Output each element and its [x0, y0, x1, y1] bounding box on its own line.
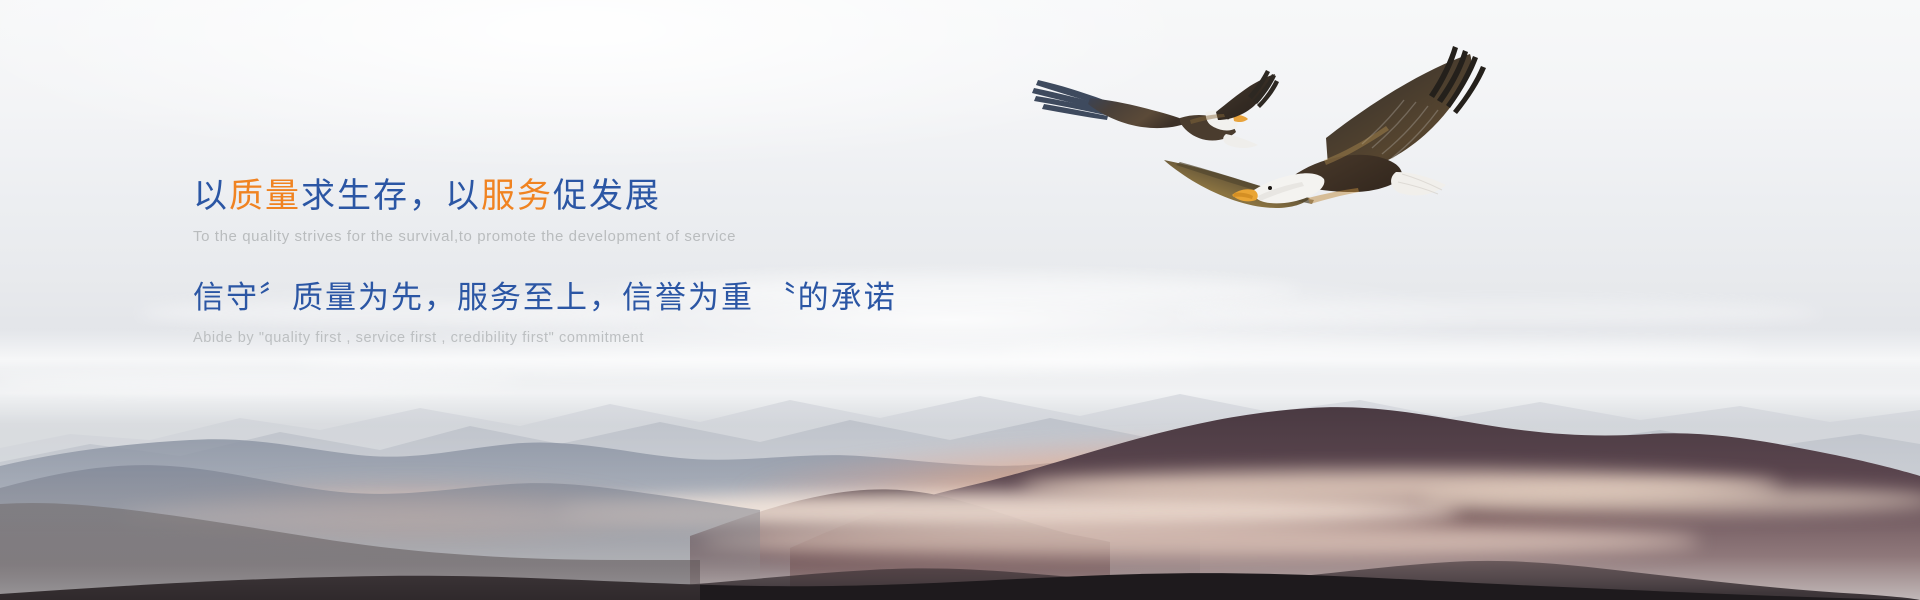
- eagle-lower-right: [1158, 40, 1498, 240]
- cloud-wisp: [1180, 300, 1820, 326]
- slogan-primary-headline: 以质量求生存，以服务促发展: [193, 176, 1093, 216]
- slogan-secondary-headline: 信守〞质量为先，服务至上，信誉为重 〝的承诺: [193, 280, 1093, 317]
- slogan-primary-subtitle: To the quality strives for the survival,…: [193, 228, 1093, 246]
- slogan-primary-seg-3: 服务: [481, 177, 553, 215]
- slogan-secondary-subtitle: Abide by "quality first , service first …: [193, 330, 1093, 347]
- slogan-primary-seg-0: 以: [193, 177, 229, 215]
- slogan-primary-seg-1: 质量: [229, 177, 301, 215]
- slogan-primary-seg-4: 促发展: [553, 177, 661, 215]
- mountain-foreground-left-wedge: [0, 456, 700, 600]
- slogan-copy-block: 以质量求生存，以服务促发展 To the quality strives for…: [193, 176, 1093, 347]
- hero-banner: 以质量求生存，以服务促发展 To the quality strives for…: [0, 0, 1920, 600]
- slogan-primary-seg-2: 求生存，以: [301, 177, 481, 215]
